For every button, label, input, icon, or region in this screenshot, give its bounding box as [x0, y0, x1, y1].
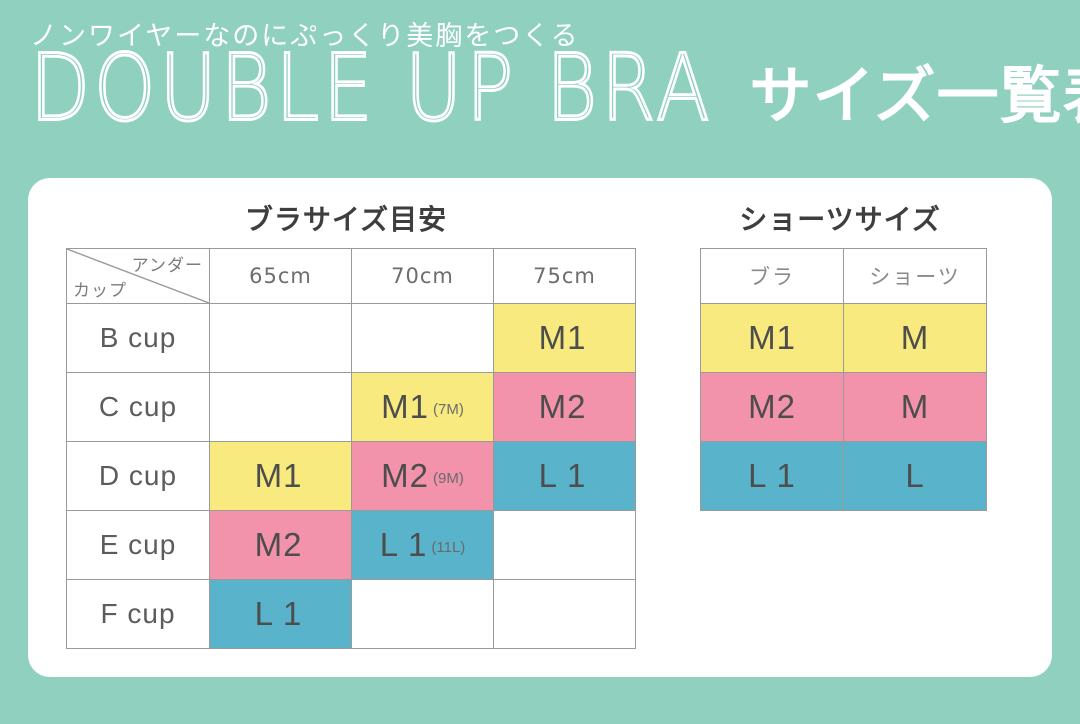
bra-col-header-70-label: 70cm [391, 264, 454, 288]
bra-cell-e-65: M2 [210, 511, 352, 580]
page-title-japanese: サイズ一覧表 [750, 60, 1080, 132]
table-row: M2 M [701, 373, 987, 442]
bra-row-header-b: B cup [67, 304, 210, 373]
bra-cell-d-75-value: L 1 [539, 457, 587, 494]
bra-row-header-f-label: F cup [100, 598, 175, 629]
bra-row-header-e: E cup [67, 511, 210, 580]
shorts-cell-bra-2: L 1 [701, 442, 844, 511]
bra-cell-f-65-value: L 1 [255, 595, 303, 632]
bra-col-header-65: 65cm [210, 249, 352, 304]
shorts-table-header-row: ブラ ショーツ [701, 249, 987, 304]
shorts-size-table: ブラ ショーツ M1 M M2 M L 1 L [700, 248, 987, 511]
bra-col-header-75-label: 75cm [533, 264, 596, 288]
shorts-cell-bra-0-value: M1 [748, 319, 796, 356]
bra-cell-d-65: M1 [210, 442, 352, 511]
bra-col-header-75: 75cm [494, 249, 636, 304]
bra-cell-c-75-value: M2 [539, 388, 587, 425]
shorts-col-header-bra: ブラ [701, 249, 844, 304]
shorts-cell-shorts-1-value: M [901, 388, 930, 425]
bra-cell-d-70-sub: (9M) [433, 470, 464, 487]
shorts-col-header-bra-label: ブラ [749, 265, 795, 289]
bra-col-header-70: 70cm [352, 249, 494, 304]
bra-cell-d-65-value: M1 [255, 457, 303, 494]
bra-cell-e-65-value: M2 [255, 526, 303, 563]
bra-cell-c-70-sub: (7M) [433, 401, 464, 418]
bra-table-title: ブラサイズ目安 [66, 198, 626, 238]
bra-cell-d-70-value: M2 [381, 457, 429, 494]
header-title-row: DOUBLE UP BRA サイズ一覧表 [30, 56, 1080, 136]
bra-cell-b-75: M1 [494, 304, 636, 373]
table-row: D cup M1 M2(9M) L 1 [67, 442, 636, 511]
shorts-cell-bra-1: M2 [701, 373, 844, 442]
table-row: F cup L 1 [67, 580, 636, 649]
bra-row-header-f: F cup [67, 580, 210, 649]
shorts-cell-bra-0: M1 [701, 304, 844, 373]
bra-size-table: アンダー カップ 65cm 70cm 75cm B cup M1 C cup [66, 248, 636, 649]
shorts-cell-shorts-0-value: M [901, 319, 930, 356]
bra-row-header-b-label: B cup [100, 322, 177, 353]
bra-cell-c-65 [210, 373, 352, 442]
bra-cell-f-70 [352, 580, 494, 649]
table-row: M1 M [701, 304, 987, 373]
shorts-table-title: ショーツサイズ [700, 198, 980, 238]
bra-col-header-65-label: 65cm [249, 264, 312, 288]
bra-cell-f-75 [494, 580, 636, 649]
bra-cell-e-75 [494, 511, 636, 580]
bra-cell-c-75: M2 [494, 373, 636, 442]
table-row: B cup M1 [67, 304, 636, 373]
cup-axis-label: カップ [73, 276, 127, 301]
bra-cell-f-65: L 1 [210, 580, 352, 649]
bra-cell-b-65 [210, 304, 352, 373]
content-card: ブラサイズ目安 アンダー カップ 65cm 70cm 75cm B [28, 178, 1052, 677]
page-header: ノンワイヤーなのにぷっくり美胸をつくる DOUBLE UP BRA サイズ一覧表 [0, 0, 1080, 178]
shorts-cell-bra-2-value: L 1 [748, 457, 796, 494]
shorts-size-panel: ショーツサイズ ブラ ショーツ M1 M M2 M L 1 L [700, 198, 987, 511]
page-title-latin: DOUBLE UP BRA [30, 42, 714, 136]
shorts-cell-shorts-1: M [844, 373, 987, 442]
bra-row-header-d: D cup [67, 442, 210, 511]
bra-cell-e-70-sub: (11L) [431, 539, 465, 556]
bra-row-header-c-label: C cup [99, 391, 177, 422]
bra-table-header-row: アンダー カップ 65cm 70cm 75cm [67, 249, 636, 304]
bra-table-corner-cell: アンダー カップ [67, 249, 210, 304]
table-row: C cup M1(7M) M2 [67, 373, 636, 442]
shorts-col-header-shorts-label: ショーツ [869, 265, 961, 289]
bra-row-header-c: C cup [67, 373, 210, 442]
bra-cell-c-70-value: M1 [381, 388, 429, 425]
shorts-cell-shorts-2: L [844, 442, 987, 511]
under-axis-label: アンダー [132, 251, 203, 276]
bra-row-header-e-label: E cup [100, 529, 177, 560]
bra-cell-e-70-value: L 1 [380, 526, 428, 563]
table-row: L 1 L [701, 442, 987, 511]
bra-cell-b-70 [352, 304, 494, 373]
bra-cell-d-75: L 1 [494, 442, 636, 511]
shorts-cell-shorts-0: M [844, 304, 987, 373]
bra-cell-e-70: L 1(11L) [352, 511, 494, 580]
shorts-col-header-shorts: ショーツ [844, 249, 987, 304]
shorts-cell-shorts-2-value: L [905, 457, 924, 494]
bra-size-panel: ブラサイズ目安 アンダー カップ 65cm 70cm 75cm B [66, 198, 636, 649]
bra-cell-c-70: M1(7M) [352, 373, 494, 442]
bra-cell-d-70: M2(9M) [352, 442, 494, 511]
bra-row-header-d-label: D cup [99, 460, 177, 491]
shorts-cell-bra-1-value: M2 [748, 388, 796, 425]
bra-cell-b-75-value: M1 [539, 319, 587, 356]
table-row: E cup M2 L 1(11L) [67, 511, 636, 580]
